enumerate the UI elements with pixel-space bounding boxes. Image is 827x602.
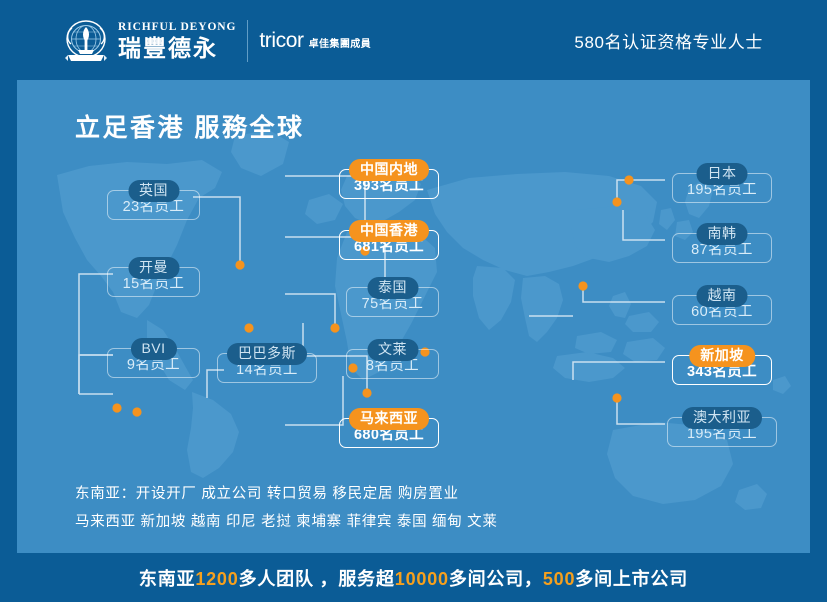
footer-part3: 多间公司， bbox=[449, 569, 543, 589]
footer-num-listed: 500 bbox=[543, 569, 575, 589]
location-name: 澳大利亚 bbox=[682, 407, 762, 429]
partner-name-cn: 卓佳集團成員 bbox=[309, 37, 371, 52]
location-name: 南韩 bbox=[697, 223, 748, 245]
partner-logo: tricor 卓佳集團成員 bbox=[259, 30, 371, 52]
page-header: RICHFUL DEYONG 瑞豐德永 tricor 卓佳集團成員 580名认证… bbox=[0, 0, 827, 80]
shield-emblem-icon bbox=[62, 18, 110, 64]
note-services: 东南亚：开设开厂 成立公司 转口贸易 移民定居 购房置业 bbox=[75, 480, 498, 508]
footer-num-companies: 10000 bbox=[395, 569, 449, 589]
location-name: 泰国 bbox=[367, 277, 418, 299]
location-name: 开曼 bbox=[128, 257, 179, 279]
note-countries: 马来西亚 新加坡 越南 印尼 老挝 柬埔寨 菲律宾 泰国 缅甸 文莱 bbox=[75, 508, 498, 536]
notes-block: 东南亚：开设开厂 成立公司 转口贸易 移民定居 购房置业 马来西亚 新加坡 越南… bbox=[75, 480, 498, 536]
brand-name-en: RICHFUL DEYONG bbox=[118, 21, 236, 34]
page-footer: 东南亚1200多人团队 ，服务超10000多间公司，500多间上市公司 bbox=[0, 553, 827, 602]
location-name: 中国香港 bbox=[349, 220, 429, 242]
footer-part1: 东南亚 bbox=[139, 569, 195, 589]
main-panel: 立足香港 服務全球 英国 23名员工 开曼 15名员工 BVI 9名员工 巴巴多… bbox=[17, 80, 810, 553]
location-name: 马来西亚 bbox=[349, 408, 429, 430]
footer-num-team: 1200 bbox=[195, 569, 238, 589]
location-name: 巴巴多斯 bbox=[227, 343, 307, 365]
logo-divider bbox=[247, 20, 248, 62]
partner-name: tricor bbox=[259, 30, 303, 52]
location-name: 日本 bbox=[697, 163, 748, 185]
infographic-page: RICHFUL DEYONG 瑞豐德永 tricor 卓佳集團成員 580名认证… bbox=[0, 0, 827, 602]
location-name: 英国 bbox=[128, 180, 179, 202]
location-name: 新加坡 bbox=[689, 345, 755, 367]
location-name: 中国内地 bbox=[349, 159, 429, 181]
header-tagline: 580名认证资格专业人士 bbox=[574, 0, 763, 80]
location-name: BVI bbox=[130, 338, 176, 360]
location-name: 越南 bbox=[697, 285, 748, 307]
location-name: 文莱 bbox=[367, 339, 418, 361]
page-title: 立足香港 服務全球 bbox=[75, 108, 304, 144]
brand-logo: RICHFUL DEYONG 瑞豐德永 tricor 卓佳集團成員 bbox=[62, 18, 371, 64]
brand-name-cn: 瑞豐德永 bbox=[118, 36, 236, 61]
footer-part4: 多间上市公司 bbox=[575, 569, 688, 589]
footer-summary: 东南亚1200多人团队 ，服务超10000多间公司，500多间上市公司 bbox=[139, 565, 688, 591]
footer-part2: 多人团队 ，服务超 bbox=[239, 569, 395, 589]
brand-name-block: RICHFUL DEYONG 瑞豐德永 bbox=[118, 21, 236, 61]
